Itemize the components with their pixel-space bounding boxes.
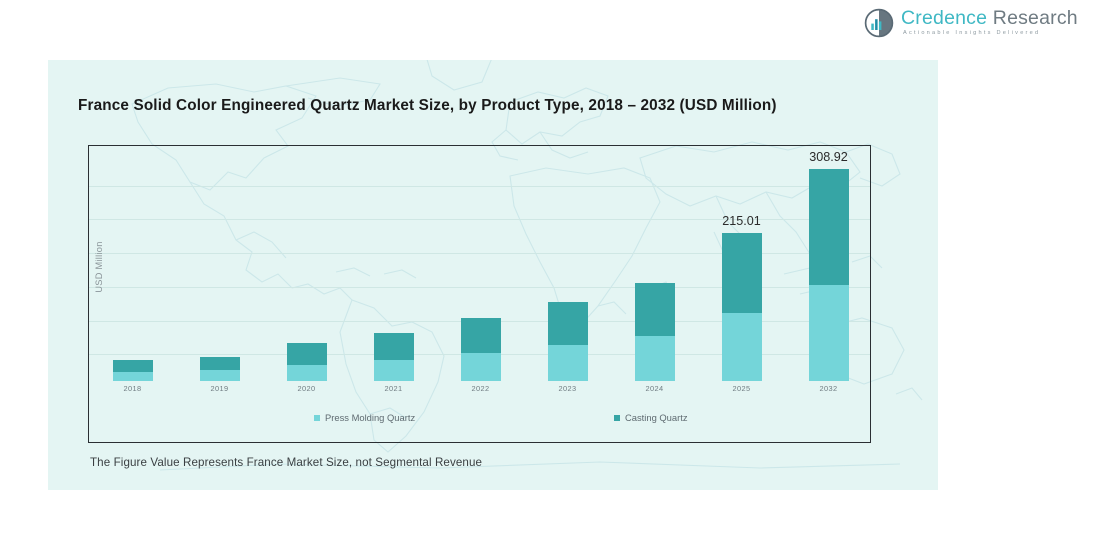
bar-segment-casting-quartz[interactable] [722,233,762,313]
bar-segment-press-molding-quartz[interactable] [113,372,153,381]
bar-segment-press-molding-quartz[interactable] [200,370,240,381]
bar-stack[interactable] [548,144,588,381]
x-tick-2023: 2023 [524,384,611,393]
brand-name: Credence Research [901,9,1078,29]
brand-name-part2: Research [993,7,1078,29]
legend-swatch [614,415,620,421]
legend-item-casting-quartz[interactable]: Casting Quartz [614,412,688,423]
bar-segment-casting-quartz[interactable] [113,360,153,371]
screenshot-root: Credence Research Actionable Insights De… [0,0,1098,552]
bar[interactable] [374,333,414,381]
bar-segment-press-molding-quartz[interactable] [287,365,327,381]
bar[interactable] [113,360,153,381]
bar[interactable] [635,283,675,381]
bar[interactable] [461,318,501,381]
chart-legend: Press Molding QuartzCasting Quartz [89,412,870,430]
bar-stack[interactable]: 215.01 [722,144,762,381]
bar-value-label: 308.92 [809,150,848,164]
legend-label: Casting Quartz [625,412,688,423]
x-tick-2025: 2025 [698,384,785,393]
legend-swatch [314,415,320,421]
bar-stack[interactable] [635,144,675,381]
bar-stack[interactable] [113,144,153,381]
chart-panel: France Solid Color Engineered Quartz Mar… [48,60,938,490]
bar-segment-press-molding-quartz[interactable] [722,313,762,381]
bar[interactable] [548,302,588,381]
bar-segment-press-molding-quartz[interactable] [548,345,588,381]
x-axis-tick-labels: 201820192020202120222023202420252032 [89,384,870,400]
brand-name-part1: Credence [901,7,987,29]
legend-item-press-molding-quartz[interactable]: Press Molding Quartz [314,412,415,423]
chart-footnote: The Figure Value Represents France Marke… [90,456,482,469]
brand-text: Credence Research Actionable Insights De… [901,9,1078,37]
bar-segment-press-molding-quartz[interactable] [809,285,849,381]
bar[interactable] [722,233,762,381]
bar-segment-casting-quartz[interactable] [200,357,240,370]
x-tick-2018: 2018 [89,384,176,393]
x-tick-2020: 2020 [263,384,350,393]
plot-area: USD Million 215.01308.92 201820192020202… [88,145,871,443]
bar-segment-casting-quartz[interactable] [635,283,675,336]
bar-stack[interactable] [461,144,501,381]
bar-segment-press-molding-quartz[interactable] [461,353,501,381]
x-tick-2019: 2019 [176,384,263,393]
bar-segment-casting-quartz[interactable] [548,302,588,345]
bar-segment-casting-quartz[interactable] [461,318,501,353]
x-tick-2032: 2032 [785,384,872,393]
page-title: France Solid Color Engineered Quartz Mar… [78,97,918,115]
bar[interactable] [287,343,327,381]
bar-segment-press-molding-quartz[interactable] [374,360,414,381]
bar-stack[interactable] [374,144,414,381]
bar-chart-circle-icon [864,8,894,38]
x-tick-2024: 2024 [611,384,698,393]
legend-label: Press Molding Quartz [325,412,415,423]
bar-stack[interactable] [287,144,327,381]
bar-segment-casting-quartz[interactable] [287,343,327,364]
bar-segment-casting-quartz[interactable] [374,333,414,360]
bar-value-label: 215.01 [722,214,761,228]
bar-stack[interactable]: 308.92 [809,144,849,381]
bar[interactable] [200,357,240,381]
bar-segment-casting-quartz[interactable] [809,169,849,285]
x-tick-2022: 2022 [437,384,524,393]
bar-stack[interactable] [200,144,240,381]
brand-logo: Credence Research Actionable Insights De… [864,8,1078,38]
brand-tagline: Actionable Insights Delivered [903,31,1078,37]
bar-segment-press-molding-quartz[interactable] [635,336,675,381]
bar-series-group: 215.01308.92 [89,144,870,381]
x-tick-2021: 2021 [350,384,437,393]
bar[interactable] [809,169,849,381]
